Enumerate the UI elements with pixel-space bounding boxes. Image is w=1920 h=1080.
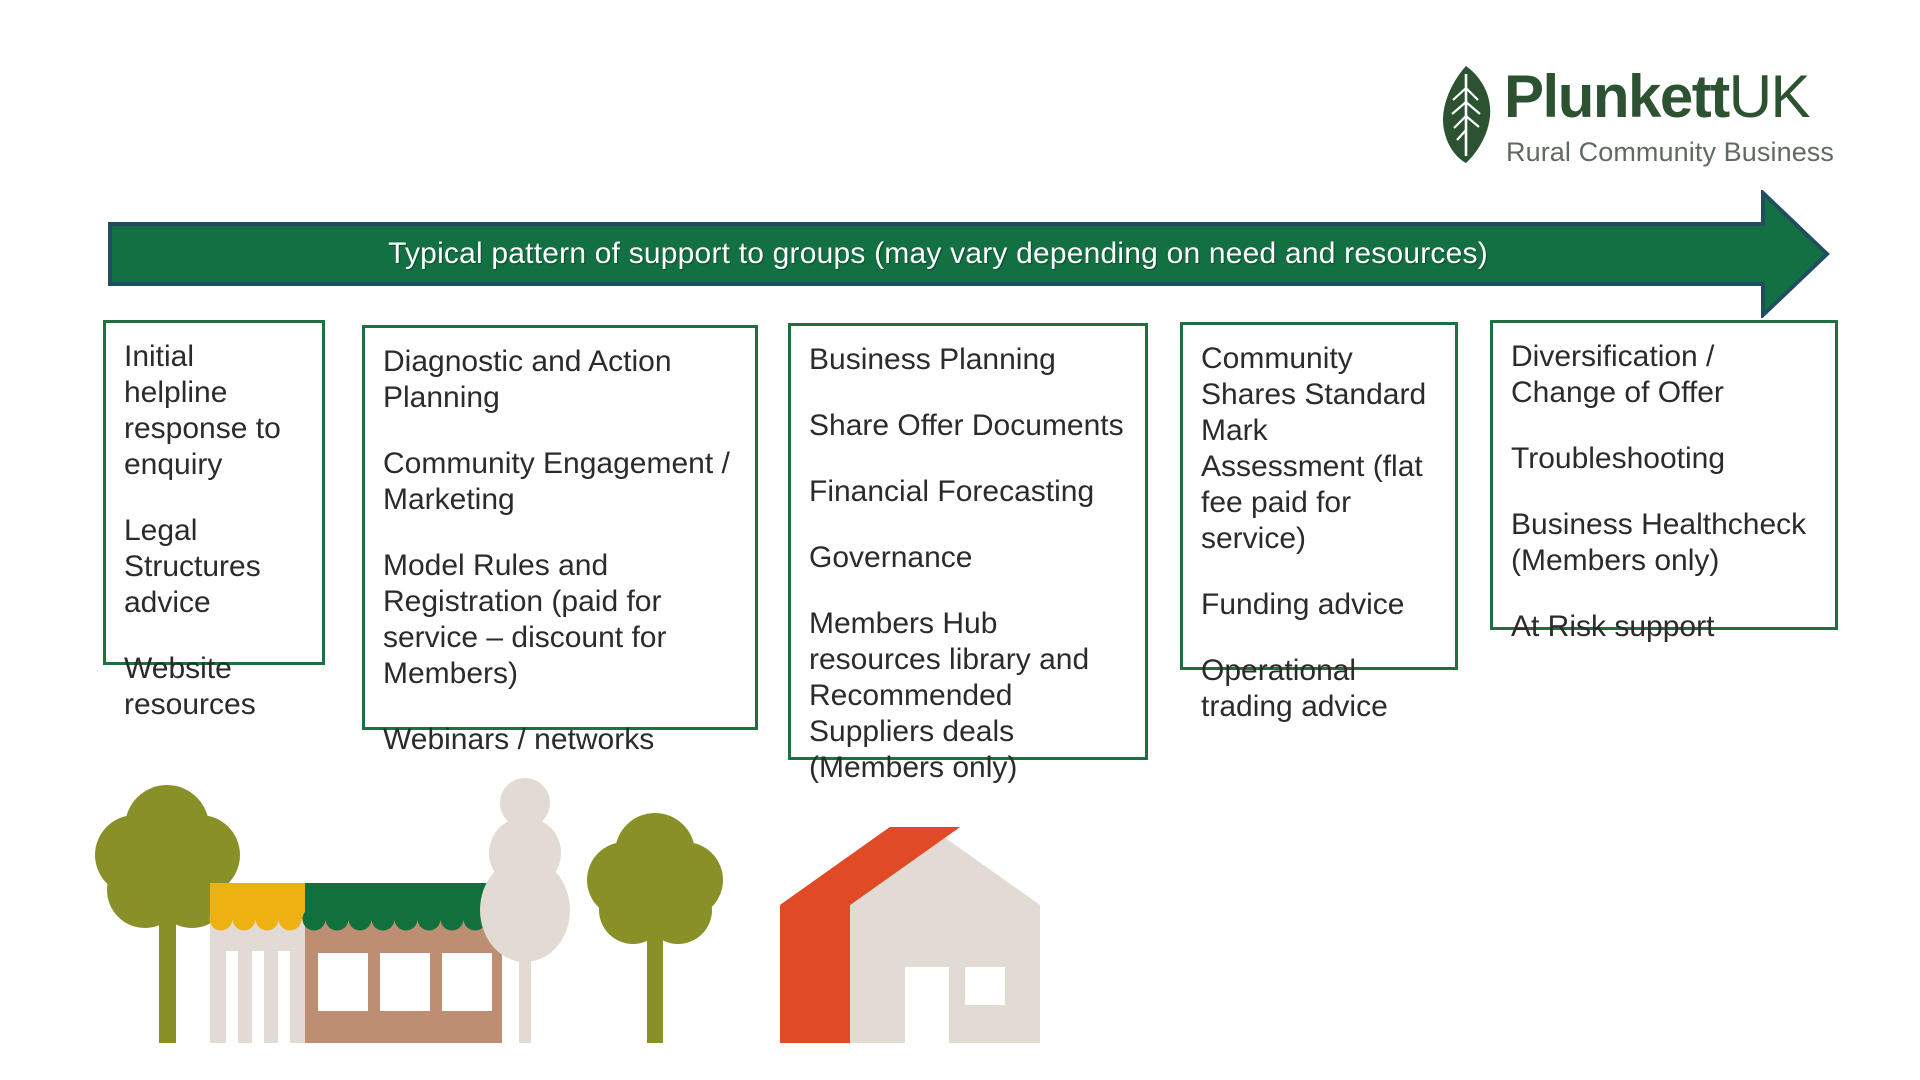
support-item: Governance [809, 540, 1127, 576]
support-item: Diversification / Change of Offer [1511, 339, 1817, 411]
support-box-stage-4: Community Shares Standard Mark Assessmen… [1180, 322, 1458, 670]
support-item: Funding advice [1201, 587, 1437, 623]
support-item: Share Offer Documents [809, 408, 1127, 444]
support-item: Diagnostic and Action Planning [383, 344, 737, 416]
support-item: Troubleshooting [1511, 441, 1817, 477]
support-item: Webinars / networks [383, 722, 737, 758]
support-item: Initial helpline response to enquiry [124, 339, 304, 483]
support-item: Business Healthcheck (Members only) [1511, 507, 1817, 579]
support-item: Legal Structures advice [124, 513, 304, 621]
village-shop [210, 883, 507, 1043]
support-item: Model Rules and Registration (paid for s… [383, 548, 737, 692]
support-item: Community Engagement / Marketing [383, 446, 737, 518]
tree-olive-right [587, 813, 723, 1043]
support-item: Website resources [124, 651, 304, 723]
support-box-stage-2: Diagnostic and Action Planning Community… [362, 325, 758, 730]
support-item: Business Planning [809, 342, 1127, 378]
support-item: Community Shares Standard Mark Assessmen… [1201, 341, 1437, 557]
support-item: At Risk support [1511, 609, 1817, 645]
support-item: Financial Forecasting [809, 474, 1127, 510]
house-red-roof [780, 827, 1040, 1043]
support-box-stage-5: Diversification / Change of Offer Troubl… [1490, 320, 1838, 630]
support-item: Operational trading advice [1201, 653, 1437, 725]
support-box-stage-3: Business Planning Share Offer Documents … [788, 323, 1148, 760]
village-illustration [60, 755, 1210, 1065]
support-box-stage-1: Initial helpline response to enquiry Leg… [103, 320, 325, 665]
